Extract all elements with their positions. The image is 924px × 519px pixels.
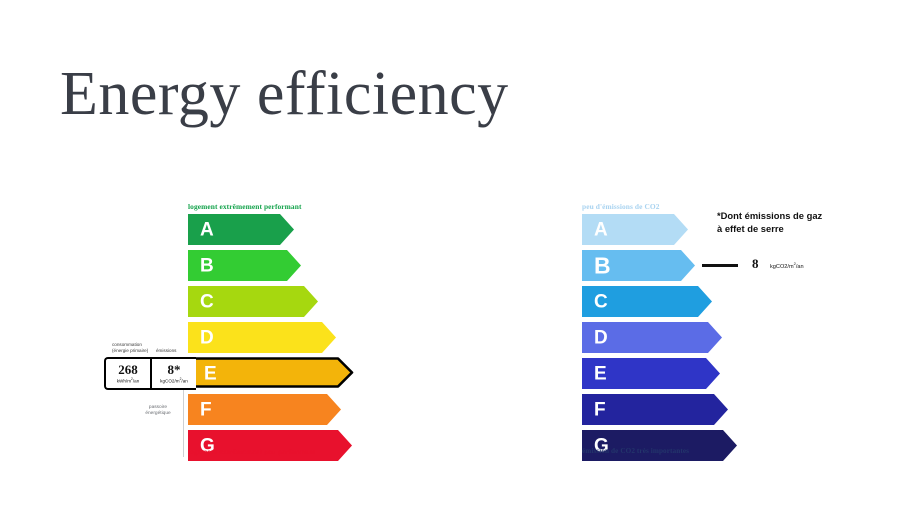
co2-emissions-chart: peu d'émissions de CO2 ABCDEFG *Dont émi… [580, 198, 880, 463]
energy-primary-value: 268 [118, 363, 138, 376]
energy-caption-top: logement extrêmement performant [188, 202, 302, 211]
energy-bar-row-g: G [104, 430, 364, 461]
co2-annotation-note: *Dont émissions de gaz à effet de serre [717, 210, 822, 235]
co2-bar-b [582, 250, 695, 281]
co2-bar-e [582, 358, 720, 389]
co2-bar-row-c: C [580, 286, 880, 317]
energy-secondary-unit: kgCO2/m2/an [160, 378, 188, 384]
co2-bar-d [582, 322, 722, 353]
co2-value-unit: kgCO2/m2/an [770, 261, 804, 270]
co2-caption-top: peu d'émissions de CO2 [582, 202, 660, 211]
energy-bar-f [188, 394, 341, 425]
energy-primary-unit: kWh/m2/an [117, 378, 140, 384]
co2-bar-row-g: G [580, 430, 880, 461]
energy-value-box: 268kWh/m2/an8*kgCO2/m2/an [104, 357, 196, 390]
energy-bar-e [186, 357, 358, 388]
co2-bar-a [582, 214, 688, 245]
energy-bar-c [188, 286, 318, 317]
energy-bar-b [188, 250, 301, 281]
co2-caption-bottom: émission de CO2 très importantes [582, 447, 689, 455]
energy-chart-rows: ABCDE268kWh/m2/an8*kgCO2/m2/anconsommati… [104, 214, 364, 466]
co2-bar-row-e: E [580, 358, 880, 389]
energy-bar-row-c: C [104, 286, 364, 317]
co2-chart-rows: ABCDEFG [580, 214, 880, 466]
energy-emissions-label: émissions [156, 348, 176, 354]
co2-bar-row-f: F [580, 394, 880, 425]
energy-performance-chart: logement extrêmement performant ABCDE268… [104, 198, 364, 463]
co2-value: 8 [752, 256, 759, 272]
energy-bar-a [188, 214, 294, 245]
co2-bar-f [582, 394, 728, 425]
energy-primary-cell: 268kWh/m2/an [106, 359, 150, 388]
energy-bar-row-b: B [104, 250, 364, 281]
energy-bar-g [188, 430, 352, 461]
co2-bar-c [582, 286, 712, 317]
energy-bar-row-a: A [104, 214, 364, 245]
passoire-label: passoireénergétique [136, 405, 180, 417]
co2-bar-g [582, 430, 737, 461]
co2-leader-line [702, 264, 738, 267]
energy-secondary-cell: 8*kgCO2/m2/an [150, 359, 196, 388]
energy-bar-d [188, 322, 336, 353]
energy-bar-row-e: E268kWh/m2/an8*kgCO2/m2/anconsommation(é… [104, 358, 364, 389]
co2-bar-row-d: D [580, 322, 880, 353]
energy-secondary-value: 8* [168, 363, 181, 376]
energy-caption-bottom: logement extrêmement peu performant [188, 447, 315, 456]
page-title: Energy efficiency [60, 60, 509, 128]
passoire-bracket-line [183, 381, 184, 457]
energy-consumption-label: consommation(énergie primaire) [112, 342, 148, 353]
